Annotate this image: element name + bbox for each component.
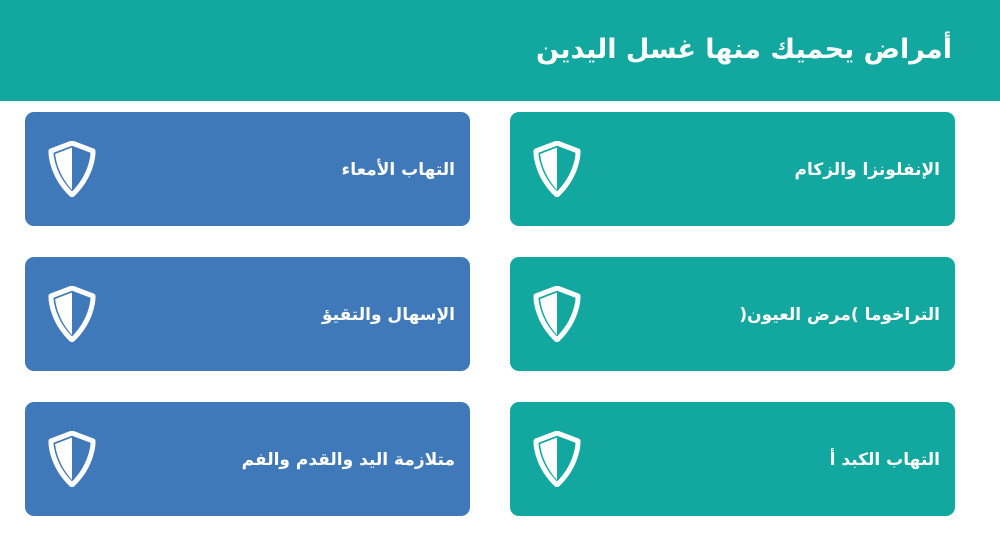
shield-icon (47, 286, 97, 342)
disease-card-influenza[interactable]: الإنفلونزا والزكام (510, 112, 955, 226)
disease-cards-grid: الإنفلونزا والزكام التراخوما )مرض العيون… (0, 101, 1000, 559)
disease-card-label: متلازمة اليد والقدم والفم (242, 447, 455, 472)
disease-card-diarrhea-vomiting[interactable]: الإسهال والتقيؤ (25, 257, 470, 371)
disease-card-label: الإسهال والتقيؤ (322, 302, 455, 327)
shield-icon (532, 286, 582, 342)
disease-card-label: التهاب الكبد أ (830, 447, 940, 472)
cards-column-blue: التهاب الأمعاء الإسهال والتقيؤ (25, 112, 470, 516)
disease-card-trachoma[interactable]: التراخوما )مرض العيون( (510, 257, 955, 371)
shield-icon (532, 431, 582, 487)
disease-card-hepatitis-a[interactable]: التهاب الكبد أ (510, 402, 955, 516)
cards-column-teal: الإنفلونزا والزكام التراخوما )مرض العيون… (510, 112, 955, 516)
shield-icon (47, 431, 97, 487)
disease-card-label: التهاب الأمعاء (342, 157, 455, 182)
disease-card-hand-foot-mouth[interactable]: متلازمة اليد والقدم والفم (25, 402, 470, 516)
disease-card-label: الإنفلونزا والزكام (795, 157, 941, 182)
page-header: أمراض يحميك منها غسل اليدين (0, 0, 1000, 101)
disease-card-enteritis[interactable]: التهاب الأمعاء (25, 112, 470, 226)
infographic-page: أمراض يحميك منها غسل اليدين الإنفلونزا و… (0, 0, 1000, 559)
page-title: أمراض يحميك منها غسل اليدين (536, 34, 952, 66)
disease-card-label: التراخوما )مرض العيون( (739, 302, 940, 327)
shield-icon (47, 141, 97, 197)
shield-icon (532, 141, 582, 197)
